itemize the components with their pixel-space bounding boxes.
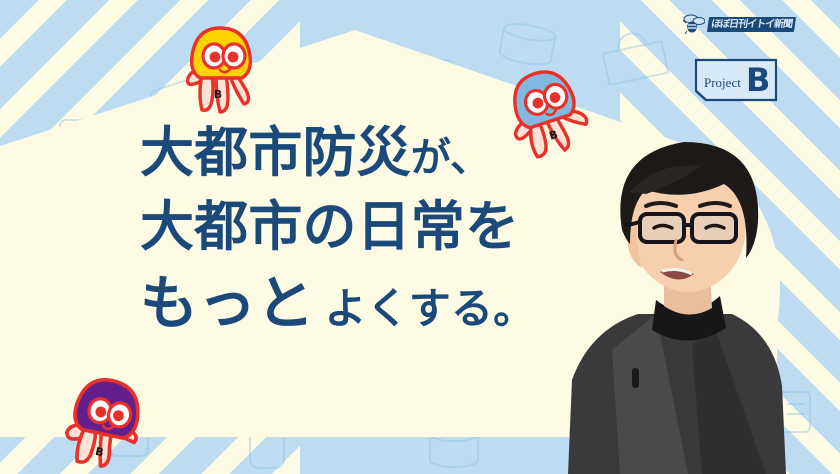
hero-banner: 大都市防災が、 大都市の日常を もっとよくする。 ほぼ日刊イトイ新聞 Proje… bbox=[0, 0, 840, 474]
svg-text:B: B bbox=[214, 88, 222, 101]
hobonichi-logotype: ほぼ日刊イトイ新聞 bbox=[707, 17, 796, 32]
headline-line-3: もっとよくする。 bbox=[140, 274, 610, 332]
badge-letter-b: B bbox=[746, 61, 770, 99]
interview-portrait bbox=[560, 118, 830, 474]
mascot-yellow: B bbox=[176, 22, 264, 114]
hobonichi-logo[interactable]: ほぼ日刊イトイ新聞 bbox=[683, 14, 795, 34]
badge-project-label: Project bbox=[704, 75, 741, 91]
mascot-purple: B bbox=[47, 363, 163, 474]
project-b-badge[interactable]: Project B bbox=[694, 58, 778, 102]
headline-line-2: 大都市の日常を bbox=[140, 200, 610, 254]
bee-icon bbox=[683, 14, 705, 34]
